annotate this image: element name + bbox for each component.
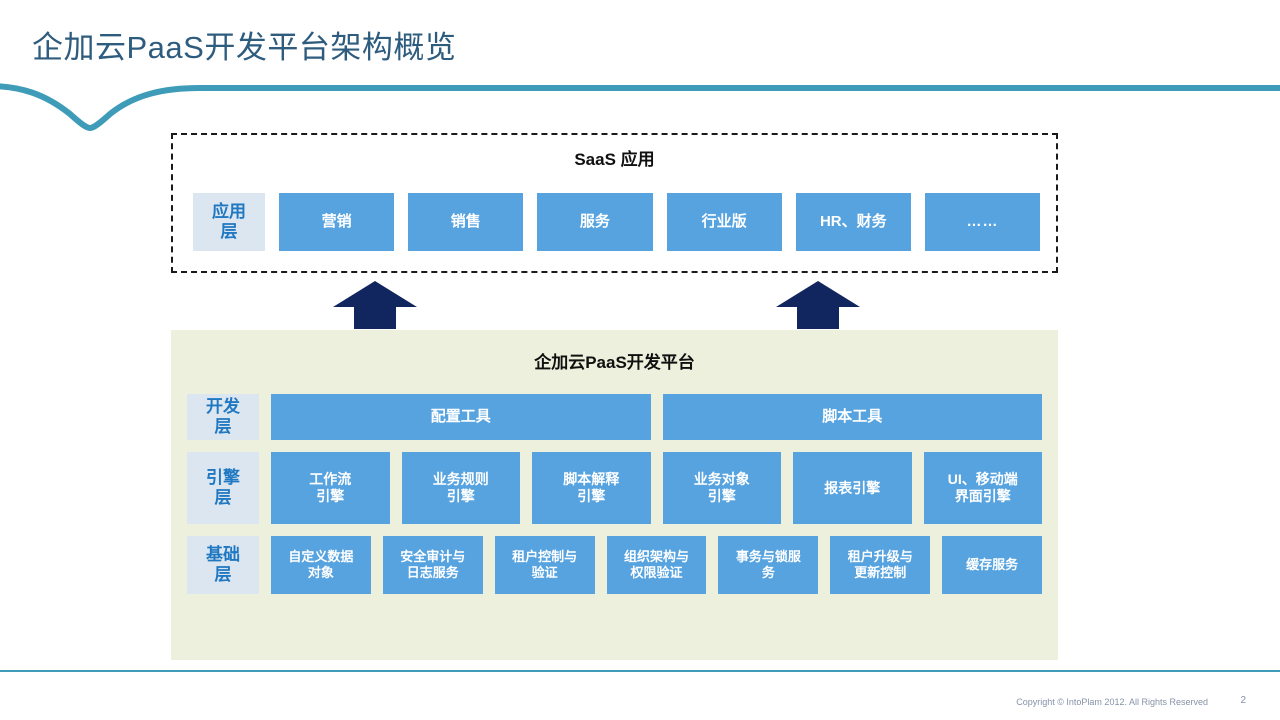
base-item-cache-service[interactable]: 缓存服务: [942, 536, 1042, 594]
footer-page-number: 2: [1240, 695, 1246, 706]
paas-row-development: 开发层 配置工具 脚本工具: [187, 394, 1042, 440]
engine-item-workflow[interactable]: 工作流引擎: [271, 452, 390, 524]
footer-divider: [0, 670, 1280, 672]
engine-item-script-interpreter[interactable]: 脚本解释引擎: [532, 452, 651, 524]
saas-application-panel: SaaS 应用 应用层 营销 销售 服务 行业版 HR、财务 ……: [171, 133, 1058, 273]
paas-panel-title: 企加云PaaS开发平台: [171, 348, 1058, 373]
base-item-custom-data-object[interactable]: 自定义数据对象: [271, 536, 371, 594]
base-item-tenant-control[interactable]: 租户控制与验证: [495, 536, 595, 594]
arrow-up-left-icon: [333, 281, 417, 329]
header-swoosh-decoration: [0, 78, 1280, 138]
engine-item-report[interactable]: 报表引擎: [793, 452, 912, 524]
dev-item-script-tool[interactable]: 脚本工具: [663, 394, 1043, 440]
base-item-transaction-lock[interactable]: 事务与锁服务: [718, 536, 818, 594]
arrow-up-right-icon: [776, 281, 860, 329]
base-item-security-audit-log[interactable]: 安全审计与日志服务: [383, 536, 483, 594]
base-item-org-permission[interactable]: 组织架构与权限验证: [607, 536, 707, 594]
saas-item-industry-edition[interactable]: 行业版: [667, 193, 782, 251]
paas-platform-panel: 企加云PaaS开发平台 开发层 配置工具 脚本工具 引擎层 工作流引擎 业务规则…: [171, 330, 1058, 660]
paas-row-base: 基础层 自定义数据对象 安全审计与日志服务 租户控制与验证 组织架构与权限验证 …: [187, 536, 1042, 594]
layer-label-development: 开发层: [187, 394, 259, 440]
saas-item-more[interactable]: ……: [925, 193, 1040, 251]
layer-label-base: 基础层: [187, 536, 259, 594]
paas-row-engine: 引擎层 工作流引擎 业务规则引擎 脚本解释引擎 业务对象引擎 报表引擎 UI、移…: [187, 452, 1042, 524]
saas-item-hr-finance[interactable]: HR、财务: [796, 193, 911, 251]
footer-copyright: Copyright © IntoPlam 2012. All Rights Re…: [1016, 697, 1208, 707]
layer-label-engine: 引擎层: [187, 452, 259, 524]
paas-layer-rows: 开发层 配置工具 脚本工具 引擎层 工作流引擎 业务规则引擎 脚本解释引擎 业务…: [187, 394, 1042, 606]
engine-item-business-rule[interactable]: 业务规则引擎: [402, 452, 521, 524]
saas-item-sales[interactable]: 销售: [408, 193, 523, 251]
dev-item-config-tool[interactable]: 配置工具: [271, 394, 651, 440]
layer-label-application: 应用层: [193, 193, 265, 251]
saas-item-marketing[interactable]: 营销: [279, 193, 394, 251]
saas-application-row: 应用层 营销 销售 服务 行业版 HR、财务 ……: [193, 193, 1040, 251]
engine-item-ui-mobile[interactable]: UI、移动端界面引擎: [924, 452, 1043, 524]
saas-panel-title: SaaS 应用: [173, 145, 1056, 170]
base-item-tenant-upgrade[interactable]: 租户升级与更新控制: [830, 536, 930, 594]
page-title: 企加云PaaS开发平台架构概览: [32, 22, 456, 67]
saas-item-service[interactable]: 服务: [537, 193, 652, 251]
engine-item-business-object[interactable]: 业务对象引擎: [663, 452, 782, 524]
